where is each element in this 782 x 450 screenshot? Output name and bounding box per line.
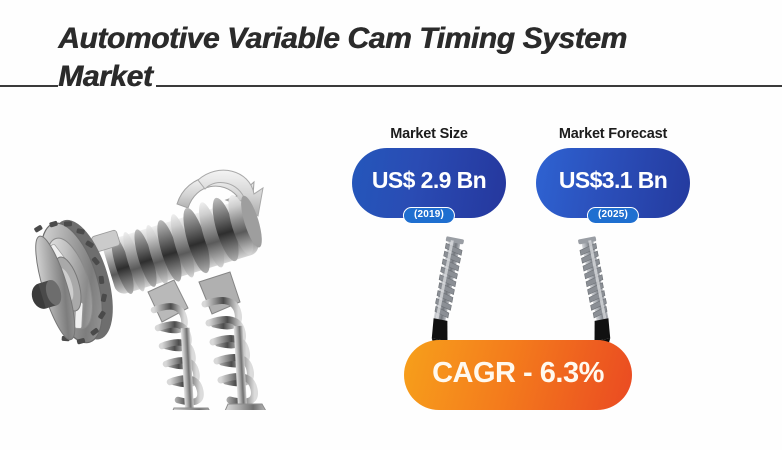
screw-right-icon bbox=[562, 236, 618, 353]
page-title-block: Automotive Variable Cam Timing SystemMar… bbox=[58, 20, 758, 96]
stat-market-forecast-value: US$3.1 Bn bbox=[559, 167, 667, 194]
stat-market-forecast-year: (2025) bbox=[587, 207, 639, 224]
stat-market-size-value: US$ 2.9 Bn bbox=[372, 167, 486, 194]
infographic-canvas: Automotive Variable Cam Timing SystemMar… bbox=[0, 0, 782, 450]
stat-market-size-year: (2019) bbox=[403, 207, 455, 224]
camshaft-illustration bbox=[2, 132, 312, 410]
valve-assembly-right bbox=[199, 272, 270, 410]
stat-market-size-label: Market Size bbox=[352, 126, 506, 142]
page-title: Automotive Variable Cam Timing SystemMar… bbox=[58, 20, 758, 96]
cagr-label: CAGR - 6.3% bbox=[432, 357, 604, 390]
stat-market-forecast-label: Market Forecast bbox=[536, 126, 690, 142]
page-title-line-1: Automotive Variable Cam Timing System bbox=[58, 22, 631, 55]
stat-market-forecast: Market Forecast US$3.1 Bn (2025) bbox=[536, 126, 690, 226]
page-title-line-2: Market bbox=[58, 60, 156, 93]
cagr-badge: CAGR - 6.3% bbox=[404, 340, 632, 410]
stat-market-size: Market Size US$ 2.9 Bn (2019) bbox=[352, 126, 506, 226]
screw-left-icon bbox=[424, 236, 480, 353]
